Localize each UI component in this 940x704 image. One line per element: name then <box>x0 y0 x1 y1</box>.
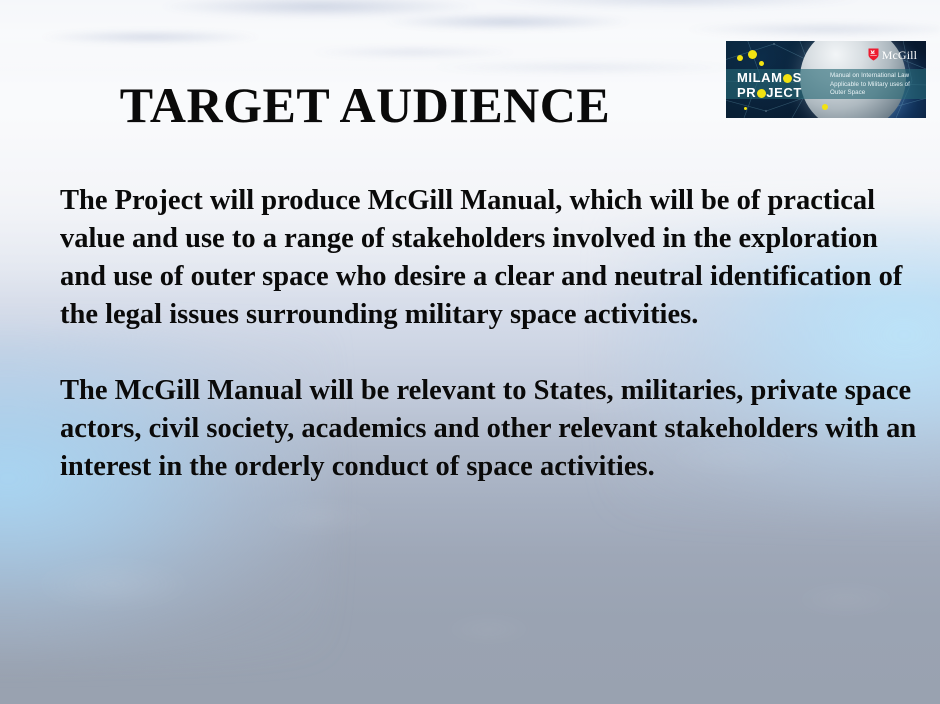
mcgill-shield-icon <box>868 48 879 61</box>
star-dot-icon <box>822 104 828 110</box>
wordmark-line-milamos: MILAMS <box>737 71 825 84</box>
star-dot-icon <box>748 50 757 59</box>
mcgill-wordmark: McGill <box>882 49 917 61</box>
body-paragraph-2: The McGill Manual will be relevant to St… <box>60 372 922 486</box>
wordmark-milam-text: MILAM <box>737 70 783 85</box>
star-dot-icon <box>744 107 747 110</box>
mcgill-logo: McGill <box>868 48 917 61</box>
wordmark-s-text: S <box>793 70 802 85</box>
wordmark-ject-text: JECT <box>766 85 802 100</box>
milamos-project-logo-banner: MILAMS PRJECT Manual on International La… <box>726 41 926 118</box>
body-text-block: The Project will produce McGill Manual, … <box>60 182 922 486</box>
wordmark-o-dot-icon <box>757 89 766 98</box>
wordmark-o-dot-icon <box>783 74 792 83</box>
milamos-wordmark: MILAMS PRJECT <box>737 71 825 99</box>
wordmark-line-project: PRJECT <box>737 86 825 99</box>
logo-tagline: Manual on International Law Applicable t… <box>830 72 922 98</box>
body-paragraph-1: The Project will produce McGill Manual, … <box>60 182 922 334</box>
slide-canvas: TARGET AUDIENCE The Project will produce… <box>0 0 940 704</box>
wordmark-pr-text: PR <box>737 85 756 100</box>
star-dot-icon <box>759 61 764 66</box>
star-dot-icon <box>737 55 743 61</box>
